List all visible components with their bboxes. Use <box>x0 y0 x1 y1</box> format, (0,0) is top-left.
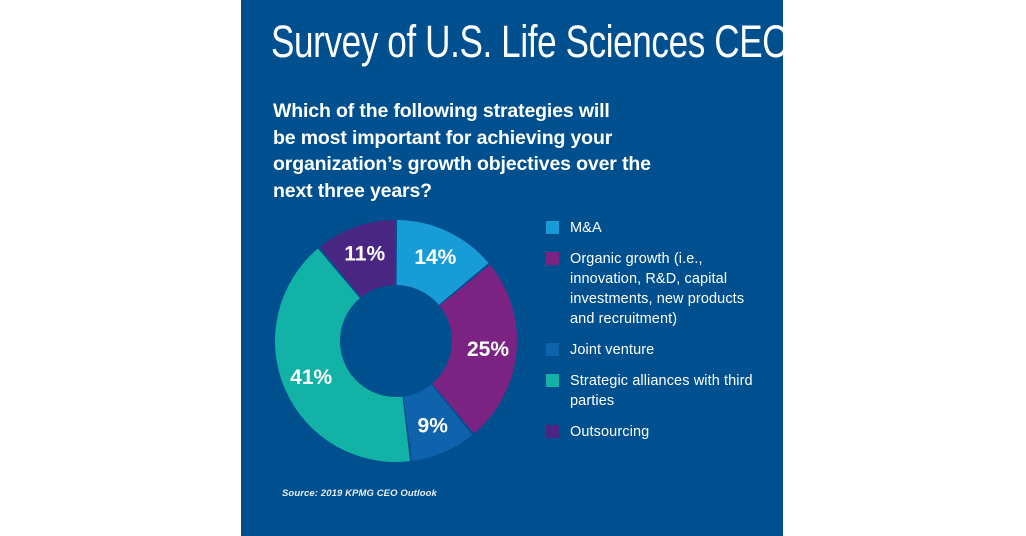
legend-item: M&A <box>546 218 771 238</box>
chart-legend: M&AOrganic growth (i.e., innovation, R&D… <box>546 218 771 453</box>
donut-chart-svg: 14%25%9%41%11% <box>271 216 521 466</box>
survey-question-line-4: next three years? <box>273 178 743 205</box>
donut-slice-label: 25% <box>467 338 509 361</box>
source-credit: Source: 2019 KPMG CEO Outlook <box>282 488 437 499</box>
legend-item: Organic growth (i.e., innovation, R&D, c… <box>546 249 771 329</box>
donut-slice-label: 9% <box>418 414 449 437</box>
legend-item: Outsourcing <box>546 422 771 442</box>
legend-swatch-icon <box>546 343 559 356</box>
survey-question-line-2: be most important for achieving your <box>273 125 743 152</box>
infographic-panel: Survey of U.S. Life Sciences CEOs Which … <box>241 0 783 536</box>
legend-item-label: M&A <box>570 218 602 238</box>
donut-slice-label: 11% <box>344 243 385 266</box>
legend-swatch-icon <box>546 425 559 438</box>
donut-chart: 14%25%9%41%11% <box>271 216 521 466</box>
page-title: Survey of U.S. Life Sciences CEOs <box>271 16 661 68</box>
legend-item: Joint venture <box>546 340 771 360</box>
legend-item-label: Outsourcing <box>570 422 649 442</box>
donut-slice-label: 14% <box>414 246 456 269</box>
legend-item-label: Organic growth (i.e., innovation, R&D, c… <box>570 249 771 329</box>
legend-item-label: Strategic alliances with third parties <box>570 371 771 411</box>
legend-swatch-icon <box>546 221 559 234</box>
legend-item: Strategic alliances with third parties <box>546 371 771 411</box>
survey-question-line-1: Which of the following strategies will <box>273 98 743 125</box>
legend-swatch-icon <box>546 374 559 387</box>
legend-swatch-icon <box>546 252 559 265</box>
legend-item-label: Joint venture <box>570 340 654 360</box>
survey-question: Which of the following strategies will b… <box>273 98 743 204</box>
infographic-canvas: Survey of U.S. Life Sciences CEOs Which … <box>0 0 1026 536</box>
donut-slice-label: 41% <box>290 366 332 389</box>
survey-question-line-3: organization’s growth objectives over th… <box>273 151 743 178</box>
